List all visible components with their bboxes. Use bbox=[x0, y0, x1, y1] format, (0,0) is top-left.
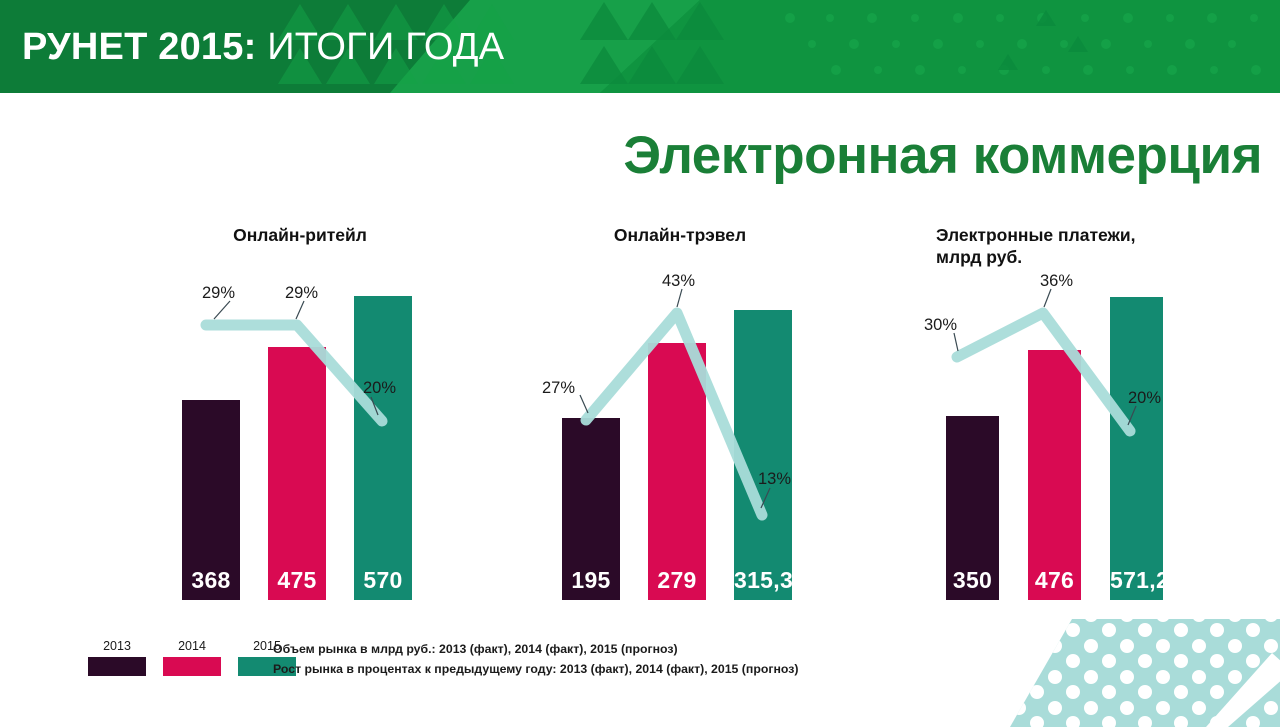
page-title-regular: ИТОГИ ГОДА bbox=[256, 26, 504, 68]
legend-item-2014: 2014 bbox=[163, 640, 221, 676]
legend-swatch bbox=[163, 657, 221, 676]
chart-online-retail: Онлайн-ритейл 368 475 570 bbox=[150, 225, 450, 615]
chart-footnotes: Объем рынка в млрд руб.: 2013 (факт), 20… bbox=[273, 640, 913, 680]
footnote-market-growth: Рост рынка в процентах к предыдущему год… bbox=[273, 660, 913, 680]
slide: РУНЕТ 2015: ИТОГИ ГОДА Электронная комме… bbox=[0, 0, 1280, 727]
pct-label-2013: 29% bbox=[202, 285, 235, 302]
pct-label-2015: 20% bbox=[1128, 390, 1161, 407]
footnote-market-volume: Объем рынка в млрд руб.: 2013 (факт), 20… bbox=[273, 640, 913, 660]
pct-label-2014: 36% bbox=[1040, 273, 1073, 290]
legend-year: 2014 bbox=[163, 640, 221, 653]
section-title: Электронная коммерция bbox=[623, 128, 1262, 184]
pct-label-2014: 43% bbox=[662, 273, 695, 290]
pct-label-2013: 27% bbox=[542, 380, 575, 397]
dotted-parallelogram-icon bbox=[1010, 607, 1280, 727]
chart-legend: 2013 2014 2015 bbox=[88, 640, 303, 686]
page-title: РУНЕТ 2015: ИТОГИ ГОДА bbox=[22, 28, 504, 66]
pct-label-2015: 20% bbox=[363, 380, 396, 397]
legend-item-2013: 2013 bbox=[88, 640, 146, 676]
chart-electronic-payments: Электронные платежи, млрд руб. 350 476 5… bbox=[900, 225, 1200, 615]
page-title-bold: РУНЕТ 2015: bbox=[22, 26, 256, 68]
legend-year: 2013 bbox=[88, 640, 146, 653]
legend-swatch bbox=[88, 657, 146, 676]
pct-label-2014: 29% bbox=[285, 285, 318, 302]
chart-plot-area: 350 476 571,2 30% 36% 20% bbox=[900, 225, 1200, 615]
chart-online-travel: Онлайн-трэвел 195 279 315,3 27% bbox=[530, 225, 830, 615]
charts-container: Онлайн-ритейл 368 475 570 bbox=[0, 225, 1280, 615]
corner-decoration bbox=[1010, 607, 1280, 727]
chart-plot-area: 195 279 315,3 27% 43% 13% bbox=[530, 225, 830, 615]
slide-header: РУНЕТ 2015: ИТОГИ ГОДА bbox=[0, 0, 1280, 93]
chart-plot-area: 368 475 570 29% 29% 20% bbox=[150, 225, 450, 615]
pct-label-2013: 30% bbox=[924, 317, 957, 334]
pct-label-2015: 13% bbox=[758, 471, 791, 488]
